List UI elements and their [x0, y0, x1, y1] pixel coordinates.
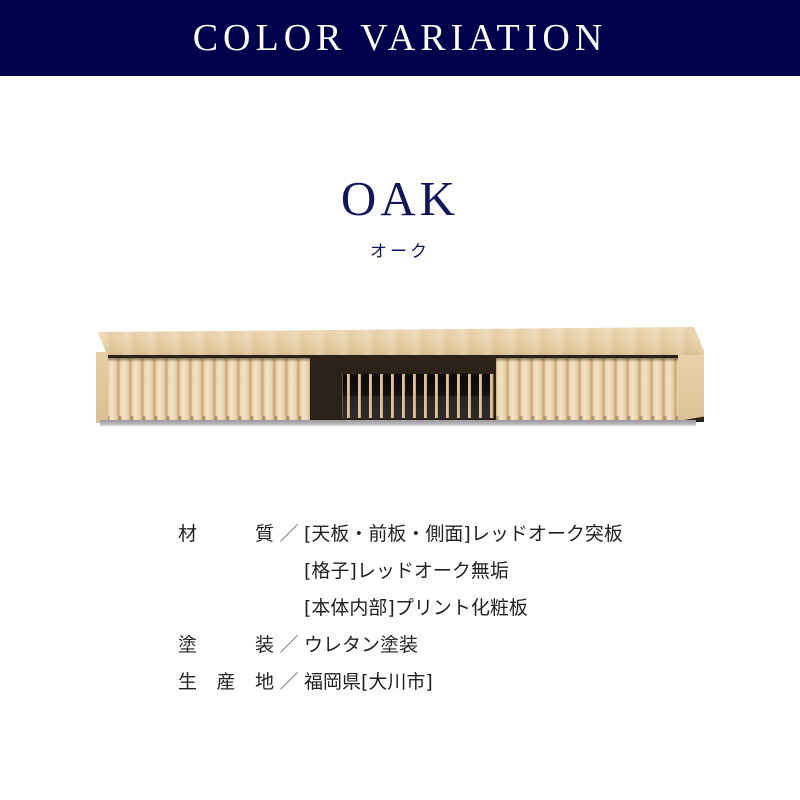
- spec-label-material: 材 質: [178, 516, 274, 553]
- spec-value-material-lattice: [格子]レッドオーク無垢: [304, 553, 698, 590]
- cabinet-top-board: [96, 327, 704, 355]
- spec-row-finish: 塗 装 ／ ウレタン塗装: [178, 627, 698, 664]
- specification-list: 材 質 ／ [天板・前板・側面]レッドオーク突板 材 質 ／ [格子]レッドオー…: [178, 516, 698, 701]
- floor-shadow: [100, 420, 696, 427]
- product-name-block: OAK オーク: [0, 172, 800, 262]
- slat-texture-right: [496, 358, 678, 421]
- spec-label-char: 塗: [178, 627, 197, 664]
- cabinet-side-left: [96, 352, 108, 423]
- spec-label-char: 質: [255, 516, 274, 553]
- color-variation-page: COLOR VARIATION OAK オーク: [0, 0, 800, 800]
- spec-label-char: 産: [216, 664, 235, 701]
- spec-row-origin: 生 産 地 ／ 福岡県[大川市]: [178, 664, 698, 701]
- product-image: [96, 327, 704, 427]
- cabinet-door-left: [107, 358, 310, 421]
- spec-separator: ／: [274, 516, 304, 553]
- cabinet-center-section: [312, 358, 494, 421]
- spec-label-char: 生: [178, 664, 197, 701]
- door-top-shadow-left: [107, 358, 310, 362]
- door-top-shadow-right: [496, 358, 678, 362]
- spec-label-origin: 生 産 地: [178, 664, 274, 701]
- banner-title: COLOR VARIATION: [193, 19, 608, 57]
- cabinet-side-right: [678, 349, 704, 421]
- spec-value-material-interior: [本体内部]プリント化粧板: [304, 590, 698, 627]
- spec-label-char: 地: [255, 664, 274, 701]
- spec-label-finish: 塗 装: [178, 627, 274, 664]
- door-seam-left: [310, 356, 312, 422]
- product-name: OAK: [0, 172, 800, 226]
- spec-row-material: 材 質 ／ [天板・前板・側面]レッドオーク突板: [178, 516, 698, 553]
- product-name-kana: オーク: [0, 237, 800, 262]
- spec-label-char: 装: [255, 627, 274, 664]
- spec-row-material-cont-1: 材 質 ／ [格子]レッドオーク無垢: [178, 553, 698, 590]
- spec-label-char: 材: [178, 516, 197, 553]
- spec-value-material: [天板・前板・側面]レッドオーク突板: [304, 516, 698, 553]
- door-top-shadow-center: [312, 358, 494, 362]
- slat-texture-left: [107, 358, 310, 421]
- spec-value-origin: 福岡県[大川市]: [304, 664, 698, 701]
- top-board-grain: [96, 327, 704, 355]
- spec-value-finish: ウレタン塗装: [304, 627, 698, 664]
- page-banner: COLOR VARIATION: [0, 0, 800, 76]
- door-seam-right: [494, 356, 496, 422]
- spec-separator: ／: [274, 627, 304, 664]
- spec-separator: ／: [274, 664, 304, 701]
- cabinet-door-right: [496, 358, 678, 421]
- spec-row-material-cont-2: 材 質 ／ [本体内部]プリント化粧板: [178, 590, 698, 627]
